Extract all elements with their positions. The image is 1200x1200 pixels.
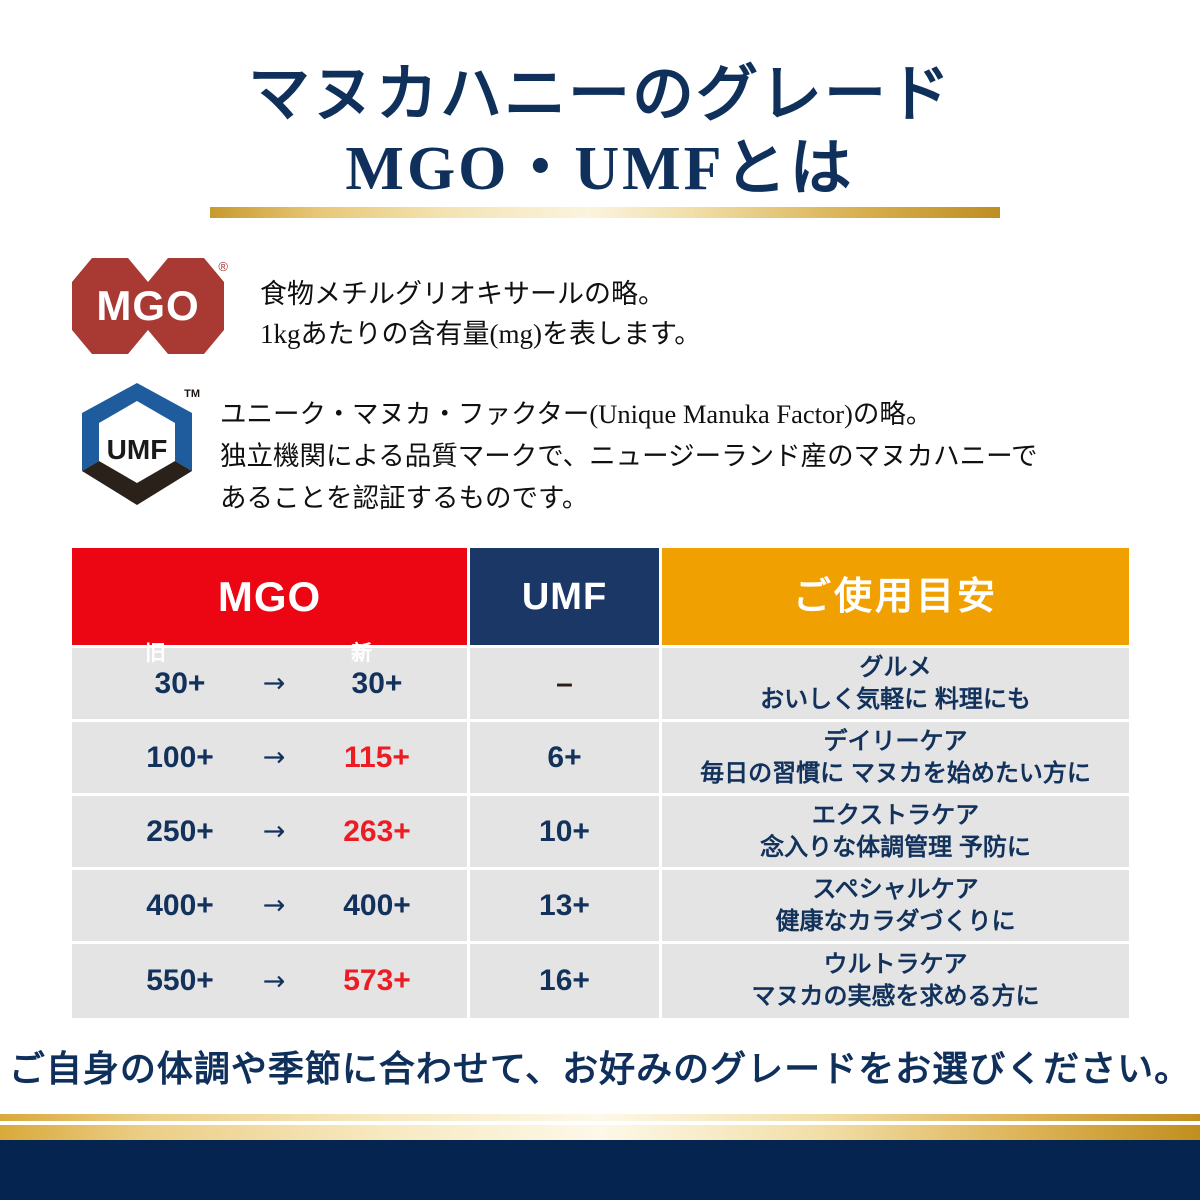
mgo-new-value: 263+: [312, 815, 442, 849]
mgo-value-group: 100+→115+: [72, 741, 467, 775]
mgo-logo-icon: MGO: [72, 258, 224, 354]
header-umf-label: UMF: [470, 578, 659, 616]
mgo-new-value: 30+: [312, 667, 442, 701]
table-row: 100+→115+6+デイリーケア毎日の習慣に マヌカを始めたい方に: [72, 722, 1129, 796]
cell-umf: –: [470, 648, 662, 722]
table-header-row: MGO 旧 新 UMF ご使用目安: [72, 548, 1129, 648]
page-title: マヌカハニーのグレード MGO・UMFとは: [0, 58, 1200, 206]
mgo-value-group: 550+→573+: [72, 964, 467, 998]
table-row: 400+→400+13+スペシャルケア健康なカラダづくりに: [72, 870, 1129, 944]
footer-navy-block: [0, 1140, 1200, 1200]
mgo-value-group: 400+→400+: [72, 889, 467, 923]
table-body: 30+→30+–グルメおいしく気軽に 料理にも100+→115+6+デイリーケア…: [72, 648, 1129, 1018]
umf-description-line-2: 独立機関による品質マークで、ニュージーランド産のマヌカハニーで: [220, 435, 1038, 477]
header-mgo-old: 旧: [145, 637, 166, 667]
usage-title: グルメ: [672, 652, 1119, 684]
cell-usage: スペシャルケア健康なカラダづくりに: [662, 870, 1129, 944]
umf-value: 16+: [539, 964, 590, 997]
header-usage-label: ご使用目安: [662, 578, 1129, 616]
definition-umf: UMF TM ユニーク・マヌカ・ファクター(Unique Manuka Fact…: [82, 383, 1038, 519]
header-umf: UMF: [470, 548, 662, 648]
mgo-new-value: 400+: [312, 889, 442, 923]
umf-value: –: [556, 667, 573, 700]
footer-gold-bar-thick: [0, 1125, 1200, 1140]
usage-subtitle: マヌカの実感を求める方に: [672, 981, 1119, 1013]
cell-usage: ウルトラケアマヌカの実感を求める方に: [662, 944, 1129, 1018]
umf-logo-icon: UMF: [82, 383, 192, 505]
usage-subtitle: 毎日の習慣に マヌカを始めたい方に: [672, 758, 1119, 790]
umf-value: 10+: [539, 815, 590, 848]
table-row: 550+→573+16+ウルトラケアマヌカの実感を求める方に: [72, 944, 1129, 1018]
mgo-description-line-2: 1kgあたりの含有量(mg)を表します。: [260, 314, 701, 354]
mgo-logo-wrap: MGO ®: [72, 258, 224, 354]
mgo-description-line-1: 食物メチルグリオキサールの略。: [260, 274, 701, 314]
umf-value: 13+: [539, 889, 590, 922]
cell-mgo: 250+→263+: [72, 796, 470, 870]
page-caption: ご自身の体調や季節に合わせて、お好みのグレードをお選びください。: [0, 1040, 1200, 1092]
svg-text:MGO: MGO: [96, 282, 199, 329]
cell-mgo: 100+→115+: [72, 722, 470, 796]
header-mgo: MGO 旧 新: [72, 548, 470, 648]
registered-trademark-icon: ®: [218, 260, 228, 273]
umf-description-line-3: あることを認証するものです。: [220, 477, 1038, 519]
header-mgo-new: 新: [351, 637, 372, 667]
header-mgo-label: MGO: [72, 576, 467, 618]
usage-subtitle: 健康なカラダづくりに: [672, 906, 1119, 938]
cell-mgo: 550+→573+: [72, 944, 470, 1018]
cell-mgo: 30+→30+: [72, 648, 470, 722]
cell-usage: デイリーケア毎日の習慣に マヌカを始めたい方に: [662, 722, 1129, 796]
arrow-right-icon: →: [236, 966, 312, 997]
trademark-icon: TM: [184, 389, 200, 400]
usage-subtitle: おいしく気軽に 料理にも: [672, 684, 1119, 716]
title-gold-divider: [210, 207, 1000, 218]
infographic-page: マヌカハニーのグレード MGO・UMFとは MGO ® 食物メチルグリオキサール…: [0, 0, 1200, 1200]
arrow-right-icon: →: [236, 668, 312, 699]
umf-description: ユニーク・マヌカ・ファクター(Unique Manuka Factor)の略。 …: [220, 393, 1038, 519]
mgo-old-value: 30+: [124, 667, 236, 701]
cell-umf: 6+: [470, 722, 662, 796]
usage-subtitle: 念入りな体調管理 予防に: [672, 832, 1119, 864]
usage-title: ウルトラケア: [672, 949, 1119, 981]
umf-description-line-1: ユニーク・マヌカ・ファクター(Unique Manuka Factor)の略。: [220, 393, 1038, 435]
definition-mgo: MGO ® 食物メチルグリオキサールの略。 1kgあたりの含有量(mg)を表しま…: [72, 258, 701, 354]
arrow-right-icon: →: [236, 890, 312, 921]
footer-gold-bar-thin: [0, 1114, 1200, 1121]
usage-title: デイリーケア: [672, 726, 1119, 758]
mgo-value-group: 30+→30+: [72, 667, 467, 701]
mgo-old-value: 550+: [124, 964, 236, 998]
mgo-description: 食物メチルグリオキサールの略。 1kgあたりの含有量(mg)を表します。: [260, 274, 701, 354]
mgo-old-value: 250+: [124, 815, 236, 849]
mgo-old-value: 100+: [124, 741, 236, 775]
cell-umf: 13+: [470, 870, 662, 944]
cell-usage: エクストラケア念入りな体調管理 予防に: [662, 796, 1129, 870]
mgo-new-value: 115+: [312, 741, 442, 775]
cell-usage: グルメおいしく気軽に 料理にも: [662, 648, 1129, 722]
usage-title: スペシャルケア: [672, 874, 1119, 906]
title-line-1: マヌカハニーのグレード: [0, 58, 1200, 132]
mgo-value-group: 250+→263+: [72, 815, 467, 849]
mgo-new-value: 573+: [312, 964, 442, 998]
cell-umf: 16+: [470, 944, 662, 1018]
table-row: 30+→30+–グルメおいしく気軽に 料理にも: [72, 648, 1129, 722]
cell-umf: 10+: [470, 796, 662, 870]
svg-text:UMF: UMF: [107, 434, 168, 465]
usage-title: エクストラケア: [672, 800, 1119, 832]
table-row: 250+→263+10+エクストラケア念入りな体調管理 予防に: [72, 796, 1129, 870]
arrow-right-icon: →: [236, 742, 312, 773]
arrow-right-icon: →: [236, 816, 312, 847]
cell-mgo: 400+→400+: [72, 870, 470, 944]
header-usage: ご使用目安: [662, 548, 1129, 648]
umf-logo-wrap: UMF TM: [82, 383, 192, 505]
grade-table: MGO 旧 新 UMF ご使用目安 30+→30+–グルメおいしく気軽に 料理に…: [72, 548, 1129, 1018]
mgo-old-value: 400+: [124, 889, 236, 923]
title-line-2: MGO・UMFとは: [0, 132, 1200, 206]
umf-value: 6+: [547, 741, 581, 774]
